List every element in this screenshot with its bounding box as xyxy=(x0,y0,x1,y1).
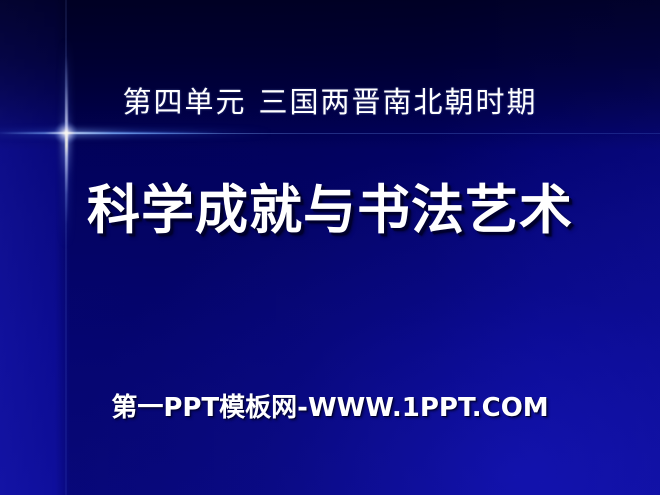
slide-subtitle: 第四单元三国两晋南北朝时期 xyxy=(0,79,660,121)
background-top-shade xyxy=(0,0,660,150)
unit-label: 第四单元 xyxy=(122,87,246,119)
background-horizon-line xyxy=(0,133,660,134)
footer-watermark: 第一PPT模板网-WWW.1PPT.COM xyxy=(0,387,660,424)
slide-title: 科学成就与书法艺术 xyxy=(0,168,660,244)
presentation-slide: 第四单元三国两晋南北朝时期 科学成就与书法艺术 第一PPT模板网-WWW.1PP… xyxy=(0,0,660,495)
period-label: 三国两晋南北朝时期 xyxy=(259,87,538,119)
